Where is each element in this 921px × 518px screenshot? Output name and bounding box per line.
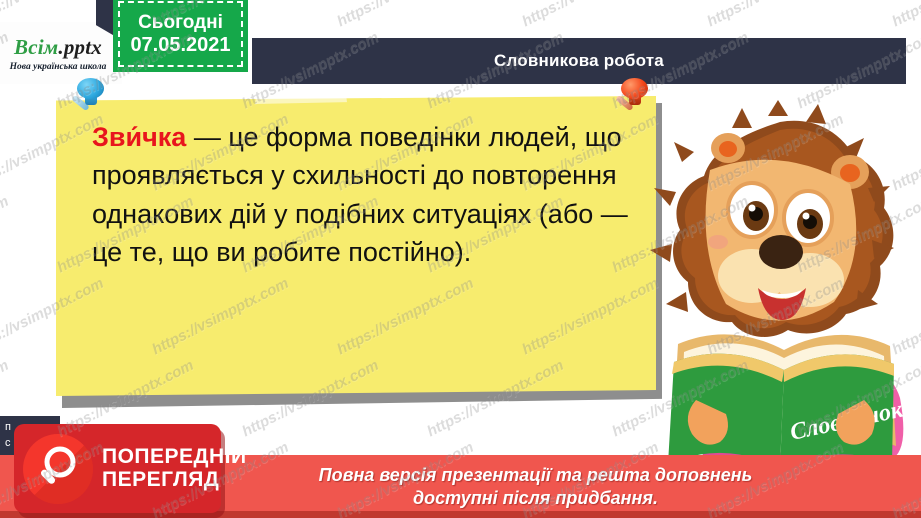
- slide-header-bar: Словникова робота: [252, 38, 906, 84]
- definition-term: Зви́чка: [92, 122, 186, 152]
- lion-character-illustration: Словничок: [640, 100, 920, 460]
- blue-pushpin-icon: [68, 78, 114, 118]
- pushpin-head: [77, 78, 104, 99]
- definition-text: Зви́чка — це форма поведінки людей, що п…: [92, 118, 634, 271]
- preview-label-line-1: ПОПЕРЕДНІЙ: [102, 446, 247, 468]
- watermark-text: https://vsimpptx.com: [889, 0, 921, 30]
- preview-label-line-2: ПЕРЕГЛЯД: [102, 469, 247, 491]
- logo-word-prefix: Всім: [14, 35, 58, 59]
- note-tape-decoration: [255, 88, 347, 104]
- banner-line-2: доступні після придбання.: [263, 487, 658, 510]
- badge-today-label: Сьогодні: [138, 12, 223, 34]
- magnifier-icon: [23, 434, 93, 504]
- badge-date-value: 07.05.2021: [130, 34, 230, 58]
- watermark-text: https://vsimpptx.com: [519, 0, 661, 30]
- preview-button[interactable]: ПОПЕРЕДНІЙ ПЕРЕГЛЯД: [14, 424, 221, 513]
- today-date-badge: Сьогодні 07.05.2021: [113, 0, 248, 72]
- brand-logo: Всім.pptx Нова українська школа: [0, 22, 122, 84]
- banner-line-1: Повна версія презентації та решта доповн…: [169, 464, 753, 487]
- pushpin-head: [621, 78, 648, 99]
- yellow-sticky-note: Зви́чка — це форма поведінки людей, що п…: [56, 96, 656, 396]
- watermark-text: https://vsimpptx.com: [704, 0, 846, 30]
- watermark-text: https://vsimpptx.com: [334, 0, 476, 30]
- watermark-text: https://vsimpptx.com: [0, 193, 11, 277]
- logo-wordmark: Всім.pptx: [14, 35, 102, 60]
- presentation-slide: Словникова робота Всім.pptx Нова українс…: [0, 0, 921, 518]
- page-title: Словникова робота: [494, 51, 664, 71]
- logo-word-suffix: pptx: [64, 35, 102, 59]
- preview-button-label: ПОПЕРЕДНІЙ ПЕРЕГЛЯД: [102, 446, 247, 491]
- logo-subtitle: Нова українська школа: [10, 62, 107, 72]
- lion-face: [706, 160, 857, 321]
